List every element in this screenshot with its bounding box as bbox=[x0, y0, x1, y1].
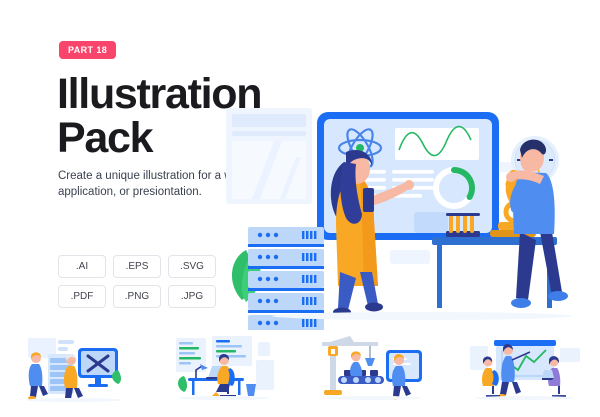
thumb-developer-desk bbox=[150, 332, 300, 414]
panel-small bbox=[258, 342, 270, 356]
ground-shadow bbox=[178, 396, 270, 400]
worker-operator-figure bbox=[350, 351, 362, 376]
format-chip-svg: .SVG bbox=[168, 255, 216, 278]
waste-bin-icon bbox=[246, 384, 256, 396]
format-chip-png: .PNG bbox=[113, 285, 161, 308]
format-chip-eps: .EPS bbox=[113, 255, 161, 278]
ground-shadow bbox=[326, 396, 422, 400]
tower-crane-icon bbox=[322, 336, 378, 395]
lab-table-icon bbox=[432, 237, 557, 308]
screen-tile-2 bbox=[414, 212, 448, 233]
format-chip-ai: .AI bbox=[58, 255, 106, 278]
format-chip-pdf: .PDF bbox=[58, 285, 106, 308]
thumb-team-presentation bbox=[450, 332, 600, 414]
ground-shadow bbox=[26, 398, 122, 402]
worker-left-figure bbox=[28, 352, 48, 400]
monitor-with-tools-icon bbox=[78, 348, 118, 387]
wave-chart bbox=[395, 127, 479, 161]
code-panel-right bbox=[212, 336, 252, 366]
ground-shadow bbox=[474, 396, 574, 400]
thumb-factory-crane bbox=[300, 332, 450, 414]
file-format-list: .AI .EPS .SVG .PDF .PNG .JPG bbox=[58, 255, 223, 308]
ground-shadow bbox=[272, 312, 572, 320]
thumb-server-maintenance bbox=[0, 332, 150, 414]
plant-icon bbox=[178, 376, 187, 392]
thumbnail-strip bbox=[0, 332, 600, 414]
part-badge: PART 18 bbox=[59, 41, 116, 59]
illustration-pack-cover: PART 18 Illustration Pack Create a uniqu… bbox=[0, 0, 600, 417]
main-illustration bbox=[222, 100, 600, 330]
background-window-icon bbox=[226, 108, 312, 204]
panel-tall bbox=[256, 360, 274, 390]
format-chip-jpg: .JPG bbox=[168, 285, 216, 308]
wall-block-1 bbox=[390, 250, 430, 264]
